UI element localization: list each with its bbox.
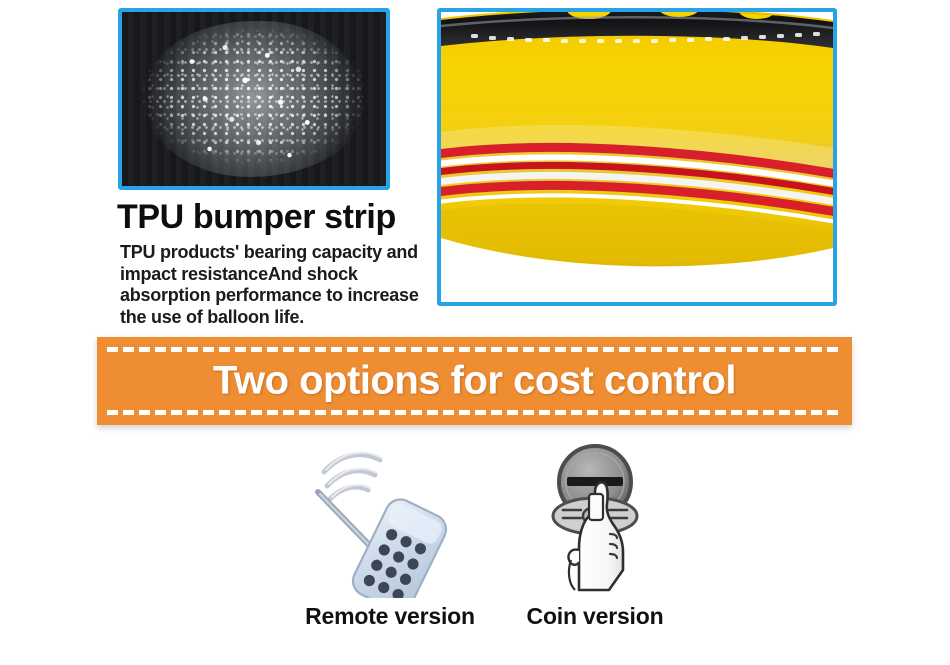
pellet-granules	[122, 12, 386, 186]
remote-control-icon	[300, 438, 480, 598]
option-remote-label: Remote version	[300, 603, 480, 630]
option-remote-version[interactable]: Remote version	[300, 438, 480, 643]
feature-title: TPU bumper strip	[117, 198, 396, 236]
bumper-strip-photo	[437, 8, 837, 306]
banner-dashed-line-top	[107, 347, 842, 352]
product-feature-page: TPU bumper strip TPU products' bearing c…	[0, 0, 950, 665]
bumper-illustration	[441, 12, 833, 302]
option-coin-label: Coin version	[505, 603, 685, 630]
option-coin-version[interactable]: Coin version	[505, 438, 685, 643]
banner-dashed-line-bottom	[107, 410, 842, 415]
cost-control-banner: Two options for cost control	[97, 337, 852, 425]
tpu-pellet-photo	[118, 8, 390, 190]
feature-description: TPU products' bearing capacity and impac…	[120, 242, 430, 328]
banner-headline: Two options for cost control	[97, 359, 852, 404]
coin-insert-hand-icon	[505, 438, 685, 598]
